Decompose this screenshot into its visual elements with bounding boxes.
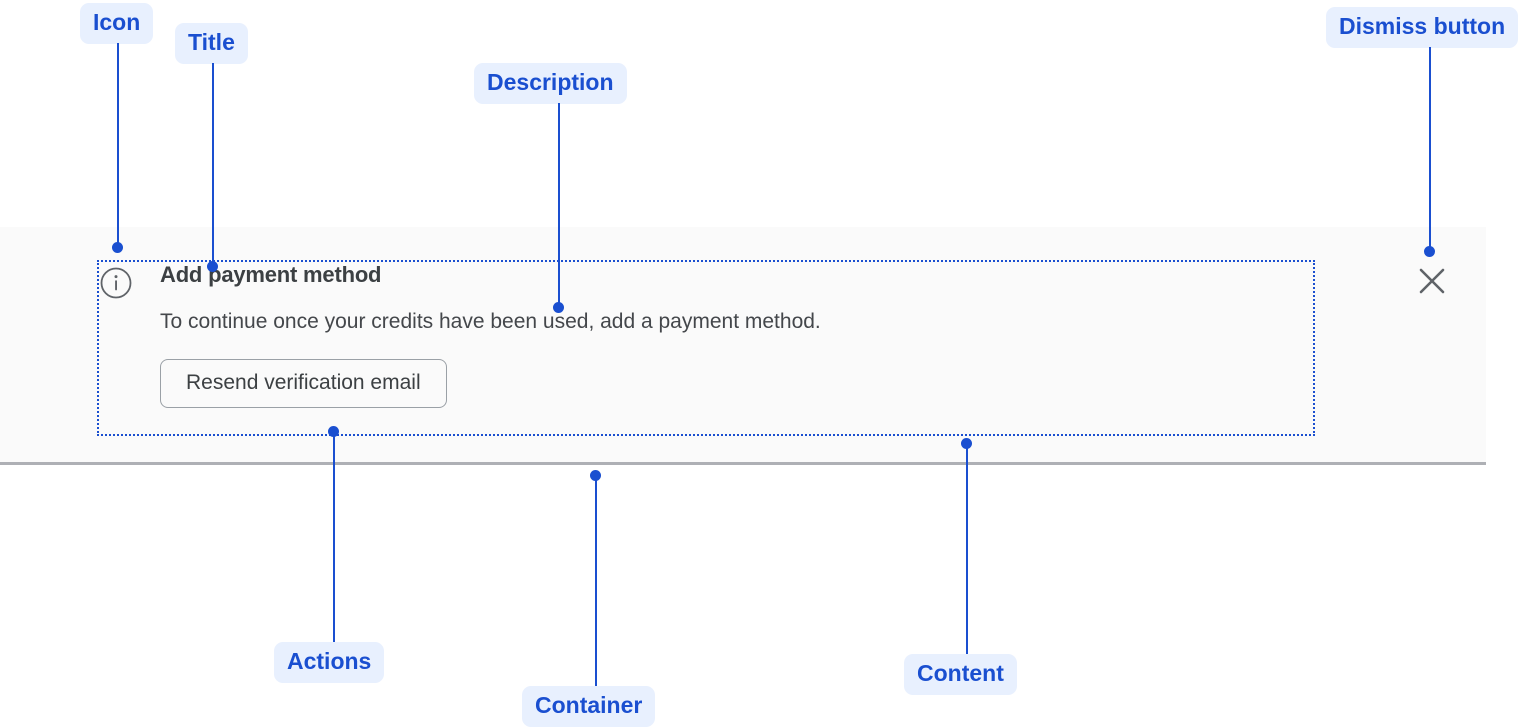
annotation-leader-container xyxy=(595,480,597,686)
notification-banner: Add payment method To continue once your… xyxy=(0,227,1486,465)
annotation-dot-container xyxy=(590,470,601,481)
annotation-dot-title xyxy=(207,261,218,272)
annotation-dot-icon xyxy=(112,242,123,253)
annotation-leader-description xyxy=(558,103,560,308)
annotation-label-content: Content xyxy=(904,654,1017,695)
annotation-label-container: Container xyxy=(522,686,655,727)
annotation-dot-actions xyxy=(328,426,339,437)
annotation-dot-dismiss xyxy=(1424,246,1435,257)
annotation-dot-description xyxy=(553,302,564,313)
resend-verification-email-button[interactable]: Resend verification email xyxy=(160,359,447,408)
banner-actions: Resend verification email xyxy=(160,359,1310,408)
banner-description: To continue once your credits have been … xyxy=(160,308,1310,336)
dismiss-button[interactable] xyxy=(1415,264,1449,298)
annotation-label-title: Title xyxy=(175,23,248,64)
annotation-dot-content xyxy=(961,438,972,449)
annotation-label-dismiss: Dismiss button xyxy=(1326,7,1518,48)
annotation-leader-content xyxy=(966,448,968,654)
info-circle-icon xyxy=(100,267,132,299)
annotation-leader-icon xyxy=(117,43,119,248)
annotation-leader-dismiss xyxy=(1429,47,1431,252)
annotation-label-description: Description xyxy=(474,63,627,104)
annotation-label-actions: Actions xyxy=(274,642,384,683)
banner-title: Add payment method xyxy=(160,260,1310,290)
annotation-leader-actions xyxy=(333,436,335,642)
annotation-leader-title xyxy=(212,63,214,267)
close-x-icon xyxy=(1415,264,1449,298)
banner-content: Add payment method To continue once your… xyxy=(97,260,1315,436)
annotation-label-icon: Icon xyxy=(80,3,153,44)
banner-text-column: Add payment method To continue once your… xyxy=(160,260,1310,408)
